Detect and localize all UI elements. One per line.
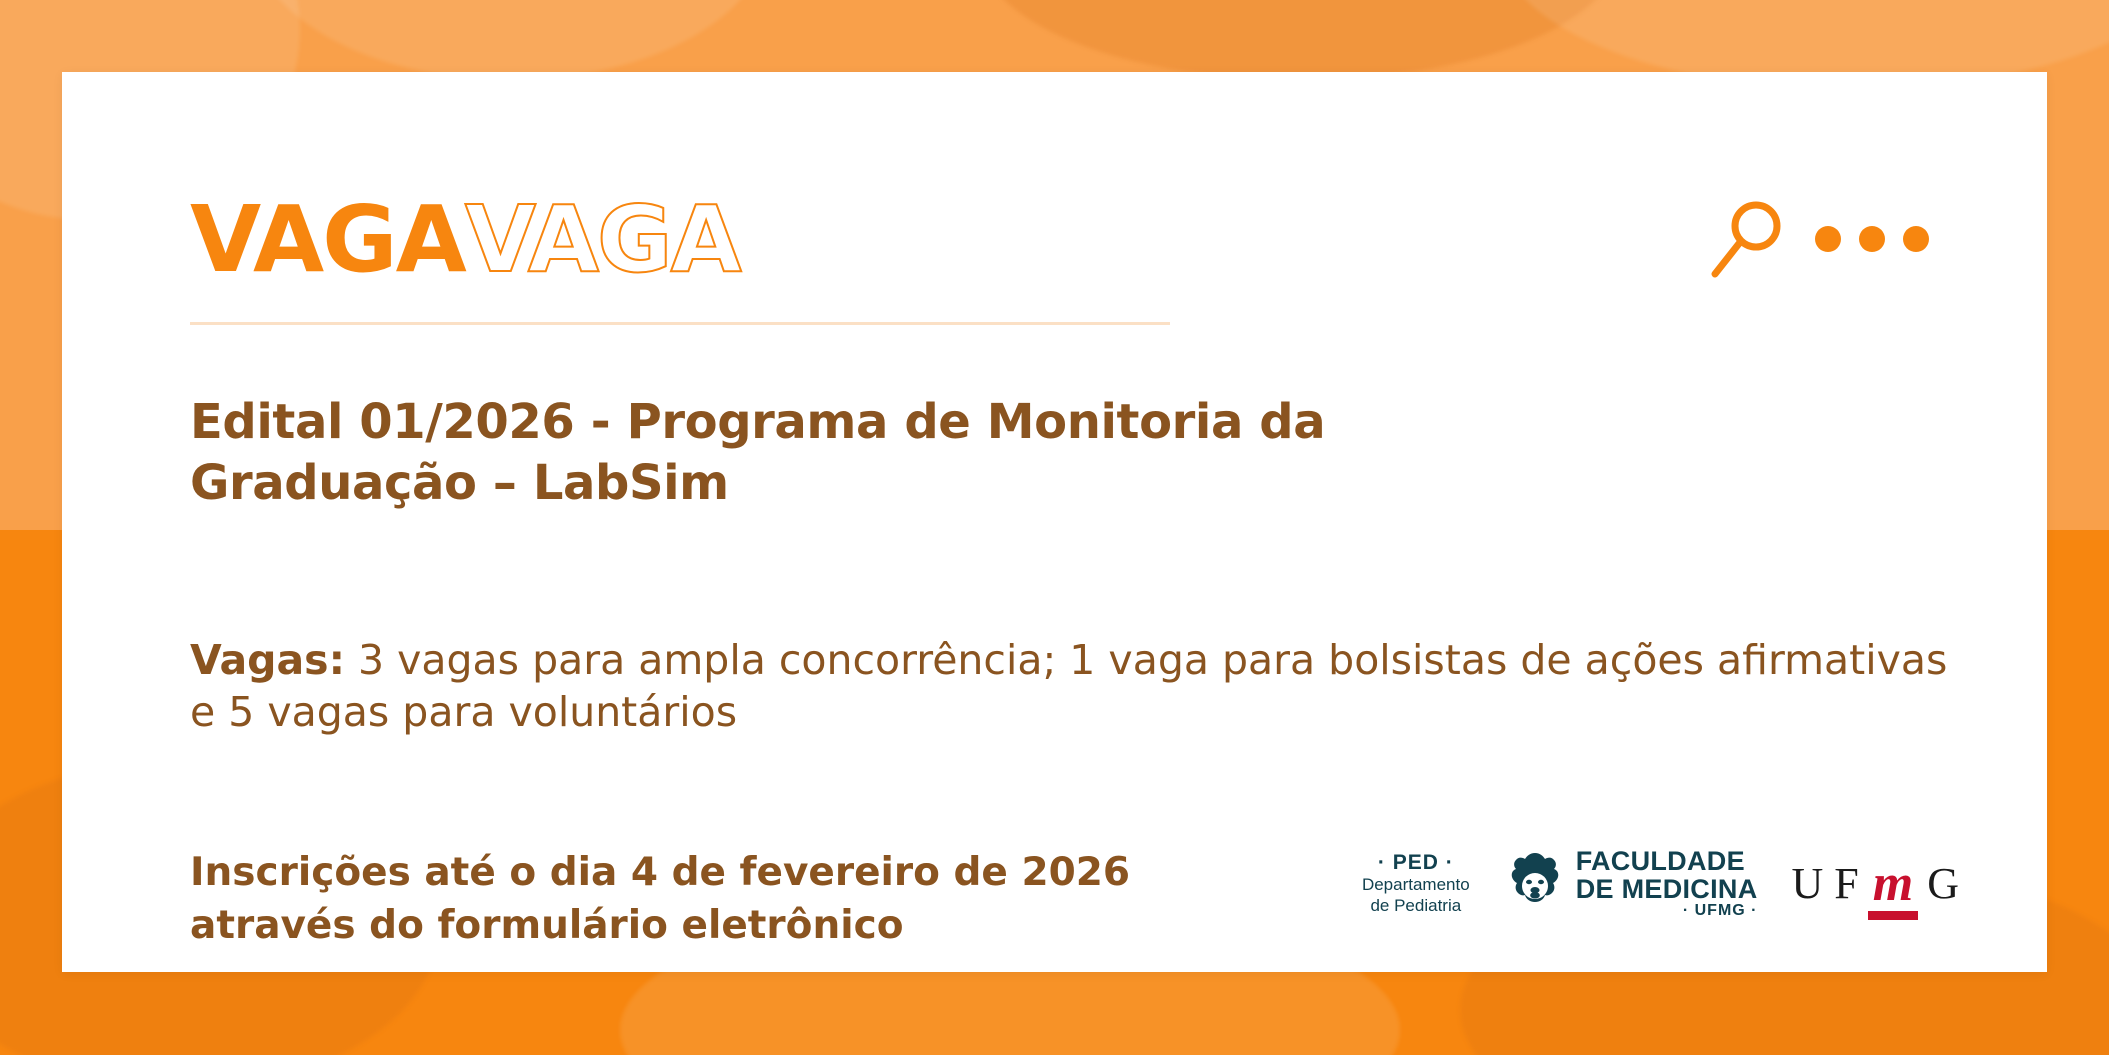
inscricoes-block: Inscrições até o dia 4 de fevereiro de 2…: [190, 847, 1390, 952]
announcement-card: VAGA VAGA Edital 01/2026 - Programa de M…: [62, 72, 2047, 972]
header-divider: [190, 322, 1170, 325]
page-title: Edital 01/2026 - Programa de Monitoria d…: [190, 392, 1590, 515]
ped-title: · PED ·: [1362, 850, 1470, 876]
lion-icon: [1504, 850, 1566, 916]
ped-sub1: Departamento: [1362, 875, 1470, 896]
page-title-line2: Graduação – LabSim: [190, 453, 1590, 514]
inscricoes-line1: Inscrições até o dia 4 de fevereiro de 2…: [190, 847, 1390, 900]
vagas-label: Vagas:: [190, 636, 345, 684]
wordmark-solid: VAGA: [190, 194, 465, 286]
dot: [1815, 226, 1841, 252]
ufmg-logo: U F m G: [1792, 858, 1960, 909]
ufmg-m: m: [1870, 859, 1916, 908]
inscricoes-line2: através do formulário eletrônico: [190, 900, 1390, 953]
faculdade-line3: · UFMG ·: [1576, 903, 1758, 920]
dot: [1903, 226, 1929, 252]
vaga-wordmark: VAGA VAGA: [190, 194, 740, 286]
ufmg-u: U: [1792, 858, 1824, 909]
ufmg-g: G: [1927, 858, 1959, 909]
ped-logo: · PED · Departamento de Pediatria: [1362, 850, 1470, 917]
footer-logos: · PED · Departamento de Pediatria: [1362, 847, 1959, 920]
vagas-text: 3 vagas para ampla concorrência; 1 vaga …: [190, 636, 1947, 736]
ped-sub2: de Pediatria: [1362, 896, 1470, 917]
wordmark-outline: VAGA: [465, 194, 740, 286]
faculdade-line1: FACULDADE: [1576, 847, 1758, 875]
page-title-line1: Edital 01/2026 - Programa de Monitoria d…: [190, 392, 1590, 453]
faculdade-line2: DE MEDICINA: [1576, 875, 1758, 903]
dot: [1859, 226, 1885, 252]
header-icon-cluster: [1711, 200, 1929, 278]
more-dots-icon[interactable]: [1815, 226, 1929, 252]
faculdade-medicina-logo: FACULDADE DE MEDICINA · UFMG ·: [1504, 847, 1758, 920]
vagas-paragraph: Vagas: 3 vagas para ampla concorrência; …: [190, 634, 1950, 738]
ufmg-f: F: [1834, 858, 1858, 909]
search-icon[interactable]: [1711, 200, 1785, 278]
